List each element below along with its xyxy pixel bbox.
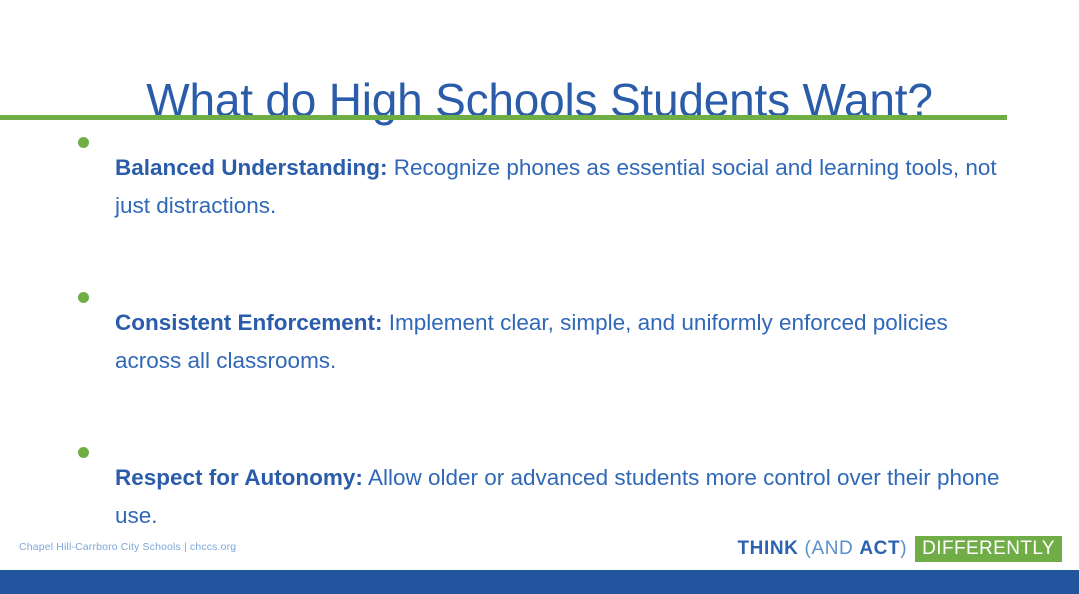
tagline-differently-badge: DIFFERENTLY [915, 536, 1062, 562]
brand-tagline: THINK (AND ACT ) DIFFERENTLY [737, 536, 1062, 562]
tagline-think: THINK [737, 538, 798, 560]
bullet-dot-icon [78, 292, 89, 303]
bullet-dot-icon [78, 447, 89, 458]
bullet-list: Balanced Understanding: Recognize phones… [78, 126, 1018, 594]
list-item-lead: Balanced Understanding: [115, 155, 388, 180]
list-item-text: Consistent Enforcement: Implement clear,… [115, 304, 1018, 380]
list-item: Balanced Understanding: Recognize phones… [78, 126, 1018, 247]
tagline-paren-open: (AND [805, 538, 854, 560]
title-divider-rule [0, 115, 1007, 120]
list-item-text: Respect for Autonomy: Allow older or adv… [115, 459, 1018, 535]
tagline-act: ACT [859, 538, 900, 560]
tagline-paren-close: ) [900, 538, 907, 560]
list-item-lead: Consistent Enforcement: [115, 310, 383, 335]
footer-credit-text: Chapel Hill-Carrboro City Schools | chcc… [19, 541, 236, 553]
bullet-dot-icon [78, 137, 89, 148]
bottom-accent-band [0, 570, 1079, 594]
list-item-text: Balanced Understanding: Recognize phones… [115, 149, 1018, 225]
presentation-slide: What do High Schools Students Want? Bala… [0, 0, 1080, 594]
list-item-lead: Respect for Autonomy: [115, 465, 363, 490]
list-item: Consistent Enforcement: Implement clear,… [78, 281, 1018, 402]
